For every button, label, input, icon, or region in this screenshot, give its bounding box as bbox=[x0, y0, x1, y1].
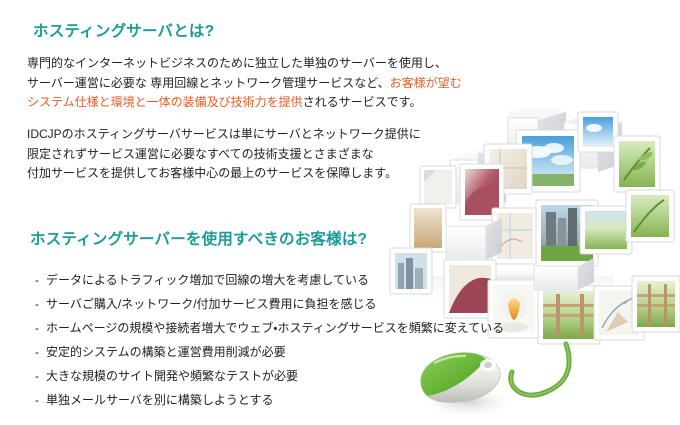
text-run: 付加サービスを提供してお客様中心の最上のサービスを保障します。 bbox=[27, 166, 397, 180]
intro-paragraph-line-2: サーバー運営に必要な 専用回線とネットワーク管理サービスなど、お客様が望む bbox=[27, 74, 462, 94]
bullet-dash-icon: - bbox=[35, 268, 46, 292]
list-item: -安定的システムの構築と運営費用削減が必要 bbox=[35, 340, 504, 364]
text-run: 限定されずサービス運営に必要なすべての技術支援とさまざまな bbox=[27, 147, 374, 161]
bullet-dash-icon: - bbox=[35, 292, 46, 316]
text-run: されるサービスです。 bbox=[303, 95, 422, 109]
text-run: 専門的なインターネットビジネスのために独立した単独のサーバーを使用し、 bbox=[27, 56, 447, 70]
list-item: -ホームページの規模や接続者増大でウェブ・ホスティングサービスを頻繁に変えている bbox=[35, 316, 504, 340]
bullet-dash-icon: - bbox=[35, 364, 46, 388]
section-heading-intro: ホスティングサーバとは? bbox=[33, 19, 214, 41]
bullet-dash-icon: - bbox=[35, 340, 46, 364]
text-run-highlight: システム仕様と環境と一体の装備及び技術力を提供 bbox=[27, 95, 303, 109]
audience-bullet-list: -データによるトラフィック増加で回線の増大を考慮している -サーバご購入/ネット… bbox=[35, 268, 504, 412]
intro-paragraph-line-3: システム仕様と環境と一体の装備及び技術力を提供されるサービスです。 bbox=[27, 93, 462, 113]
list-item-label: サーバご購入/ネットワーク/付加サービス費用に負担を感じる bbox=[46, 297, 377, 311]
page-root: ホスティングサーバとは? 専門的なインターネットビジネスのために独立した単独のサ… bbox=[0, 0, 680, 425]
list-item-label: 安定的システムの構築と運営費用削減が必要 bbox=[46, 345, 286, 359]
detail-paragraph-line-2: 限定されずサービス運営に必要なすべての技術支援とさまざまな bbox=[27, 145, 421, 165]
bullet-dash-icon: - bbox=[35, 388, 46, 412]
intro-paragraph: 専門的なインターネットビジネスのために独立した単独のサーバーを使用し、 サーバー… bbox=[27, 54, 462, 113]
list-item: -サーバご購入/ネットワーク/付加サービス費用に負担を感じる bbox=[35, 292, 504, 316]
detail-paragraph-line-1: IDCJPのホスティングサーバサービスは単にサーバとネットワーク提供に bbox=[27, 125, 421, 145]
list-item-label: 大きな規模のサイト開発や頻繁なテストが必要 bbox=[46, 369, 298, 383]
list-item-label: 単独メールサーバを別に構築しようとする bbox=[46, 393, 274, 407]
bullet-dash-icon: - bbox=[35, 316, 46, 340]
section-heading-audience: ホスティングサーバーを使用すべきのお客様は? bbox=[30, 227, 367, 249]
text-run: IDCJPのホスティングサーバサービスは単にサーバとネットワーク提供に bbox=[27, 127, 421, 141]
list-item: -大きな規模のサイト開発や頻繁なテストが必要 bbox=[35, 364, 504, 388]
list-item-label: データによるトラフィック増加で回線の増大を考慮している bbox=[46, 273, 369, 287]
detail-paragraph: IDCJPのホスティングサーバサービスは単にサーバとネットワーク提供に 限定され… bbox=[27, 125, 421, 184]
list-item: -単独メールサーバを別に構築しようとする bbox=[35, 388, 504, 412]
text-run-highlight: お客様が望む bbox=[390, 76, 462, 90]
text-run: サーバー運営に必要な 専用回線とネットワーク管理サービスなど、 bbox=[27, 76, 390, 90]
intro-paragraph-line-1: 専門的なインターネットビジネスのために独立した単独のサーバーを使用し、 bbox=[27, 54, 462, 74]
detail-paragraph-line-3: 付加サービスを提供してお客様中心の最上のサービスを保障します。 bbox=[27, 164, 421, 184]
list-item-label: ホームページの規模や接続者増大でウェブ・ホスティングサービスを頻繁に変えている bbox=[46, 321, 504, 335]
content-layer: ホスティングサーバとは? 専門的なインターネットビジネスのために独立した単独のサ… bbox=[0, 0, 680, 425]
list-item: -データによるトラフィック増加で回線の増大を考慮している bbox=[35, 268, 504, 292]
